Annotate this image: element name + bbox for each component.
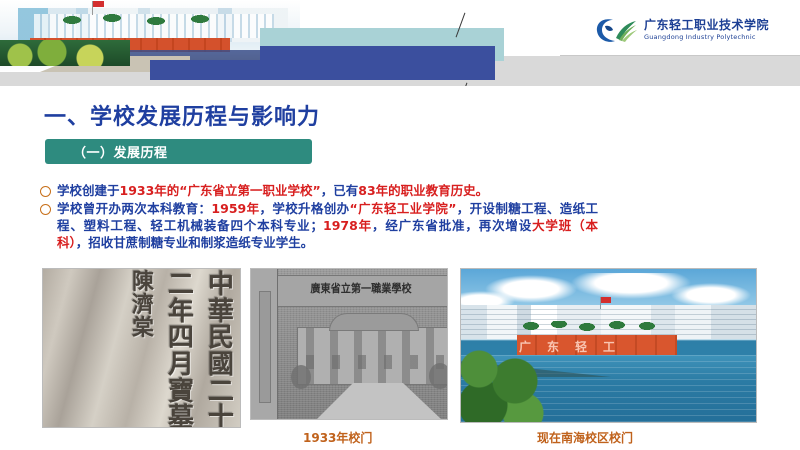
logo-name-cn: 广东轻工职业技术学院 [644, 19, 769, 31]
header-accent-bar-blue-left [150, 60, 265, 80]
header-accent-bar-blue [260, 46, 495, 80]
campus-flag-icon [601, 297, 611, 303]
gate-inscription-text: 廣東省立第一職業學校 [286, 280, 437, 296]
list-item: 学校创建于1933年的“广东省立第一职业学校”，已有83年的职业教育历史。 [38, 182, 598, 199]
logo-text-block: 广东轻工职业技术学院 Guangdong Industry Polytechni… [644, 19, 769, 41]
bullet-text-run: ，已有 [321, 183, 359, 198]
gate-windows-lower [297, 355, 447, 369]
stone-inscription-char: 四 [168, 326, 194, 351]
school-logo: 广东轻工职业技术学院 Guangdong Industry Polytechni… [596, 14, 786, 46]
stone-inscription-char: 華 [208, 300, 234, 325]
bullet-text-run: 学校创建于 [57, 183, 120, 198]
stone-inscription-char: 年 [168, 300, 194, 325]
stone-inscription-char: 民 [208, 326, 234, 351]
stone-inscription-char: 濟 [132, 296, 154, 317]
stone-inscription-char: 棠 [132, 319, 154, 340]
bullet-text-run: ，学校升格创办 [259, 201, 349, 216]
stone-inscription-column: 二年四月寶墓 [168, 273, 194, 423]
stone-inscription-char: 寶 [168, 380, 194, 405]
stone-inscription-column: 中華民國二十 [208, 273, 234, 423]
section-banner: （一）发展历程 [45, 139, 312, 164]
stone-inscription-column: 陳濟棠 [132, 273, 154, 423]
logo-name-en: Guangdong Industry Polytechnic [644, 34, 769, 41]
old-school-gate-photo: 廣東省立第一職業學校 [250, 268, 448, 420]
stone-inscription-columns: 中華民國二十二年四月寶墓陳濟棠 [43, 269, 240, 427]
stone-inscription-photo: 中華民國二十二年四月寶墓陳濟棠 [42, 268, 241, 428]
stone-inscription-char: 墓 [168, 406, 194, 428]
photo-caption-1933-gate: 1933年校门 [303, 429, 372, 446]
bullet-text-run: ，经广东省批准，再次增设 [372, 218, 532, 233]
page-title: 一、学校发展历程与影响力 [44, 99, 320, 131]
gate-tree-right-icon [429, 363, 448, 389]
bullet-text: 学校曾开办两次本科教育：1959年，学校升格创办“广东轻工业学院”，开设制糖工程… [57, 200, 598, 251]
circle-bullet-icon [38, 201, 53, 217]
gate-arched-roof [329, 313, 419, 331]
bullet-text-run: 1978年 [323, 218, 372, 233]
bullet-list: 学校创建于1933年的“广东省立第一职业学校”，已有83年的职业教育历史。 学校… [38, 182, 598, 252]
bullet-text-run: 83年的职业教育历史。 [358, 183, 488, 198]
stone-inscription-char: 十 [208, 406, 234, 428]
bullet-text: 学校创建于1933年的“广东省立第一职业学校”，已有83年的职业教育历史。 [57, 182, 488, 199]
photo-row: 中華民國二十二年四月寶墓陳濟棠 廣東省立第一職業學校 广东轻工 [0, 268, 800, 450]
stone-inscription-char: 月 [168, 353, 194, 378]
stone-inscription-char: 中 [208, 273, 234, 298]
gate-tree-left-icon [291, 365, 311, 389]
list-item: 学校曾开办两次本科教育：1959年，学校升格创办“广东轻工业学院”，开设制糖工程… [38, 200, 598, 251]
banner-shrubs [0, 40, 130, 66]
gate-left-pillar-inset [259, 291, 271, 403]
bullet-text-run: 1959年 [211, 201, 259, 216]
swoosh-leaf-logo-icon [596, 16, 638, 44]
bullet-text-run: “广东轻工业学院” [350, 201, 457, 216]
circle-bullet-icon [38, 183, 53, 199]
header-divider-rule [560, 55, 800, 56]
stone-inscription-char: 陳 [132, 273, 154, 294]
banner-flag-icon [93, 1, 104, 7]
bullet-text-run: 1933年的“广东省立第一职业学校” [120, 183, 321, 198]
stone-inscription-char: 二 [208, 380, 234, 405]
stone-inscription-char: 二 [168, 273, 194, 298]
stone-inscription-char: 國 [208, 353, 234, 378]
photo-caption-nanhai-gate: 现在南海校区校门 [537, 429, 633, 446]
section-banner-label: （一）发展历程 [73, 142, 168, 161]
header-accent-bar-teal [260, 28, 500, 46]
slide-root: 广东轻工职业技术学院 Guangdong Industry Polytechni… [0, 0, 800, 450]
campus-foreground-shrubs [461, 347, 553, 422]
bullet-text-run: ，招收甘蔗制糖专业和制浆造纸专业学生。 [76, 235, 314, 250]
nanhai-campus-photo: 广东轻工 [460, 268, 757, 423]
bullet-text-run: 学校曾开办两次本科教育： [57, 201, 211, 216]
banner-palm-trees [60, 14, 240, 40]
